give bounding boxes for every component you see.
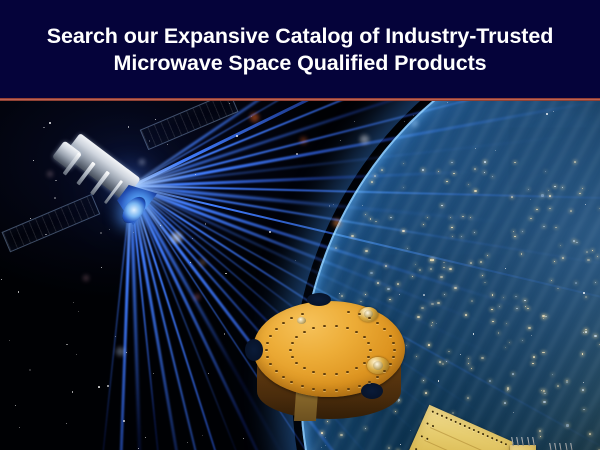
headline-line-2: Microwave Space Qualified Products xyxy=(114,52,487,75)
filter-mount-hole xyxy=(282,376,285,378)
filter-mount-hole xyxy=(392,342,395,344)
mmic-chip-1 xyxy=(506,437,540,450)
chip-lead xyxy=(554,443,557,450)
circular-cavity-filter xyxy=(249,299,409,423)
filter-mount-hole xyxy=(301,385,304,387)
filter-mount-hole xyxy=(369,349,372,351)
filter-notch-bottom xyxy=(361,383,383,399)
filter-screw-left xyxy=(297,317,306,324)
chip-lead xyxy=(549,443,552,450)
filter-notch-top xyxy=(307,293,331,306)
chip-lead xyxy=(570,443,573,450)
space-products-banner: Search our Expansive Catalog of Industry… xyxy=(0,0,600,450)
filter-mount-hole xyxy=(358,385,361,387)
filter-mount-hole xyxy=(275,370,278,372)
filter-mount-hole xyxy=(303,367,306,369)
chip-lead xyxy=(565,443,568,450)
filter-mount-hole xyxy=(347,388,350,390)
filter-mount-hole xyxy=(312,388,315,390)
filter-mount-hole xyxy=(265,349,268,351)
filter-mount-hole xyxy=(363,336,366,338)
filter-mount-hole xyxy=(335,389,338,391)
chip-lead xyxy=(516,437,519,446)
filter-mount-hole xyxy=(291,342,294,344)
filter-mount-hole xyxy=(346,327,349,329)
header-divider-line xyxy=(0,98,600,101)
filter-mount-hole xyxy=(368,381,371,383)
filter-mount-hole xyxy=(393,349,396,351)
headline-block: Search our Expansive Catalog of Industry… xyxy=(0,0,600,99)
chip-lead xyxy=(511,437,514,446)
mmic-chip-2 xyxy=(544,443,578,450)
filter-mount-hole xyxy=(282,322,285,324)
filter-mount-hole xyxy=(358,313,361,315)
filter-mount-hole xyxy=(363,362,366,364)
filter-screw-right xyxy=(373,361,383,370)
filter-top-face xyxy=(253,301,405,397)
filter-mount-hole xyxy=(335,373,338,375)
filter-notch-left xyxy=(245,339,263,361)
filter-mount-hole xyxy=(346,371,349,373)
filter-mount-hole xyxy=(291,356,294,358)
space-scene xyxy=(0,99,600,450)
banner-header: Search our Expansive Catalog of Industry… xyxy=(0,0,600,99)
filter-mount-hole xyxy=(368,317,371,319)
filter-mount-hole xyxy=(266,342,269,344)
filter-mount-hole xyxy=(289,349,292,351)
headline-line-1: Search our Expansive Catalog of Industry… xyxy=(47,25,554,48)
filter-mount-hole xyxy=(347,311,350,313)
filter-mount-hole xyxy=(301,313,304,315)
communications-satellite xyxy=(36,123,236,253)
filter-mount-hole xyxy=(303,331,306,333)
filter-mount-hole xyxy=(323,389,326,391)
chip-lead xyxy=(560,443,563,450)
filter-mount-hole xyxy=(275,328,278,330)
filter-mount-hole xyxy=(269,335,272,337)
filter-mount-hole xyxy=(389,335,392,337)
